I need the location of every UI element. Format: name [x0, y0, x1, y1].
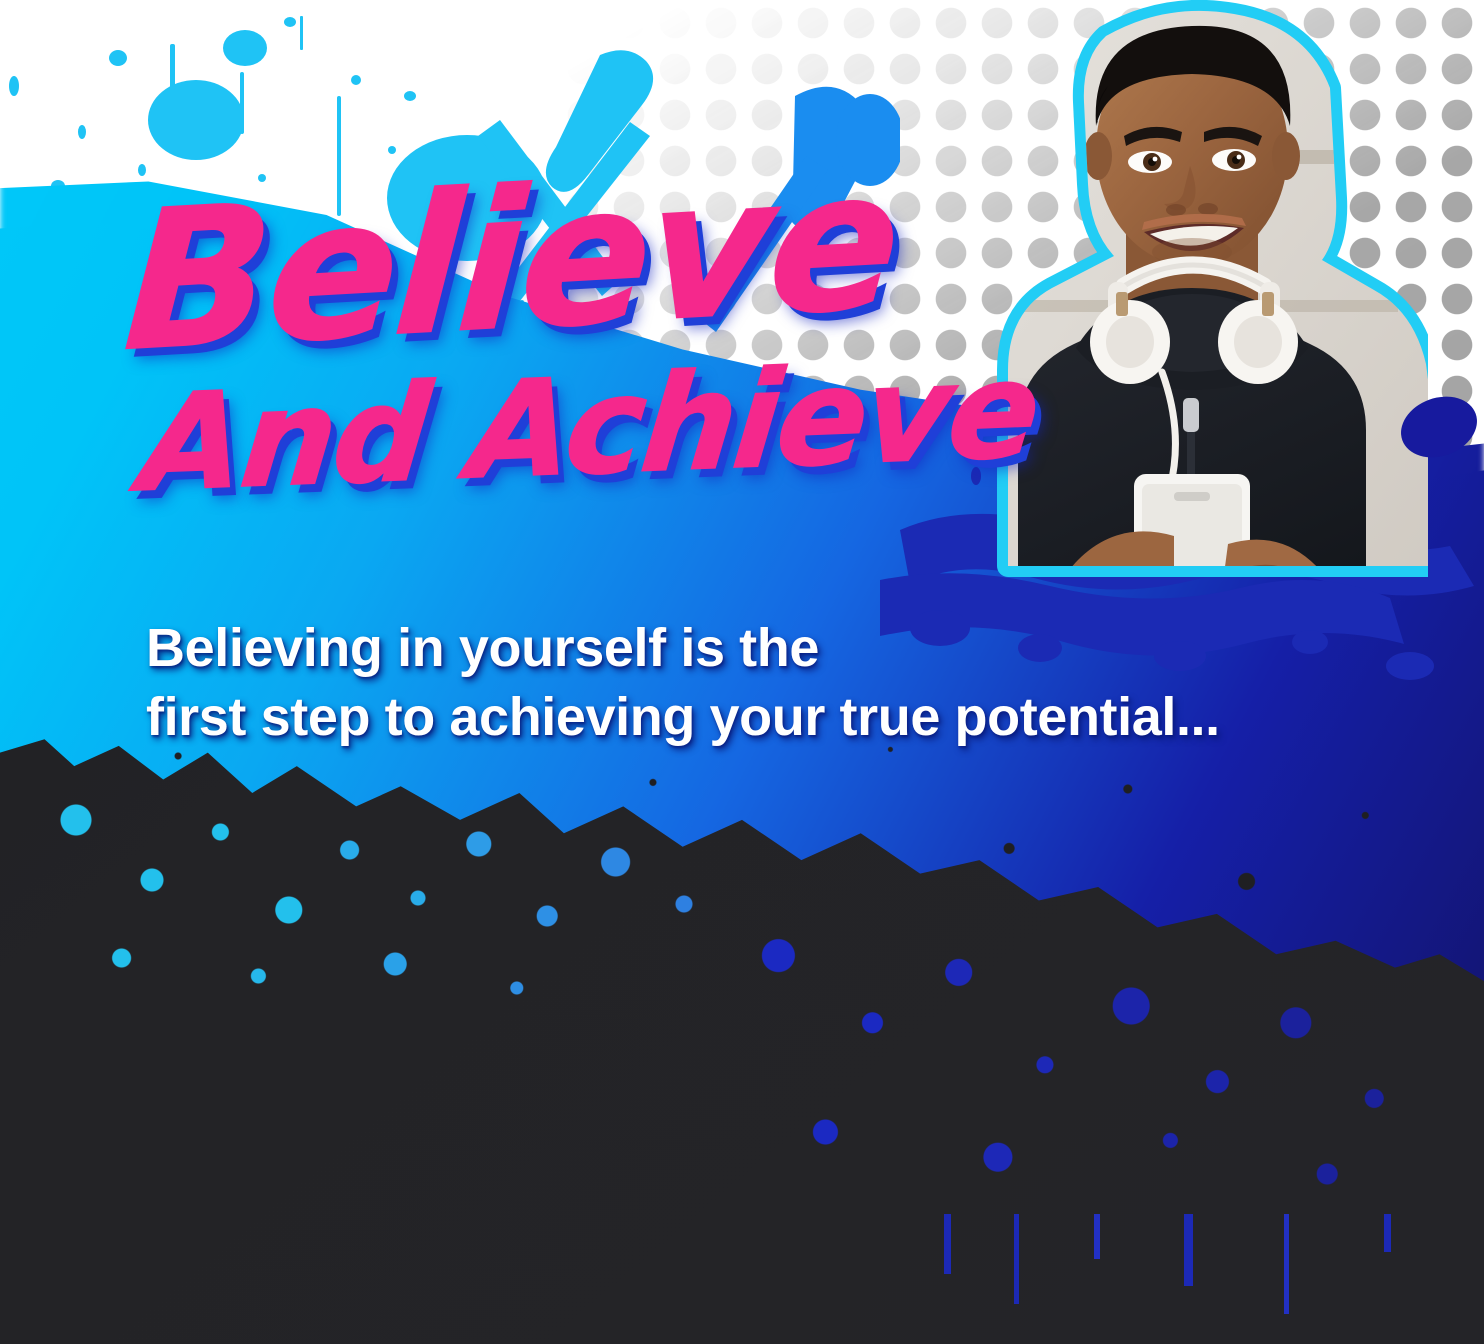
- subtitle-text: Believing in yourself is the first step …: [146, 614, 1386, 752]
- cyan-droplets-icon: [0, 760, 760, 1060]
- blue-drip-streaks-icon: [884, 1214, 1484, 1344]
- poster-canvas: Believe And Achieve Believing in yoursel…: [0, 0, 1484, 1344]
- headline-line-2: And Achieve: [136, 349, 1064, 506]
- headline: Believe And Achieve: [118, 170, 1058, 488]
